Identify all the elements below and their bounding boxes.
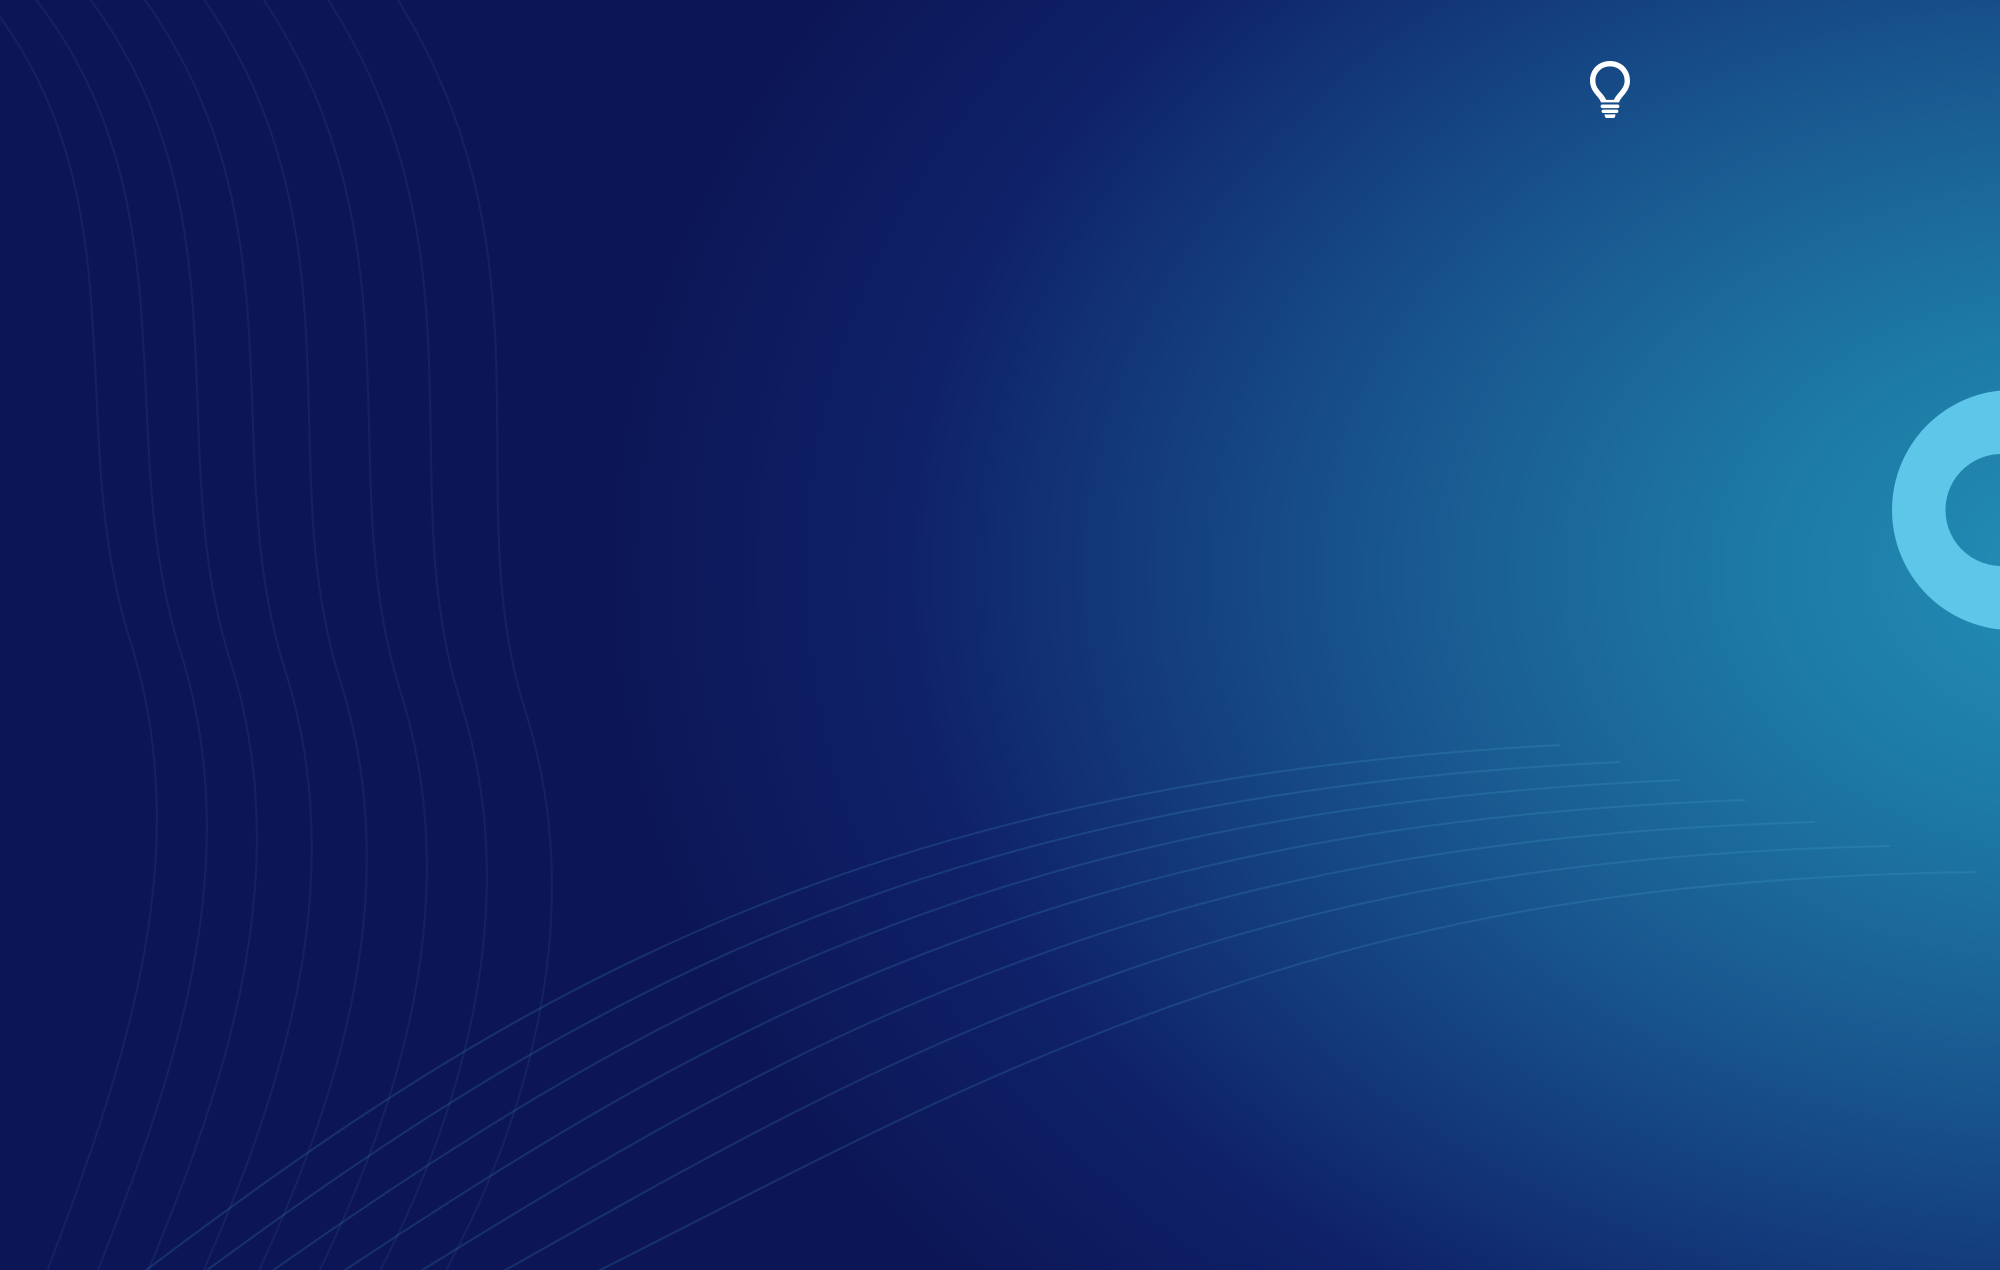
checklist-steps xyxy=(0,0,2000,1270)
infographic-canvas xyxy=(0,0,2000,1270)
